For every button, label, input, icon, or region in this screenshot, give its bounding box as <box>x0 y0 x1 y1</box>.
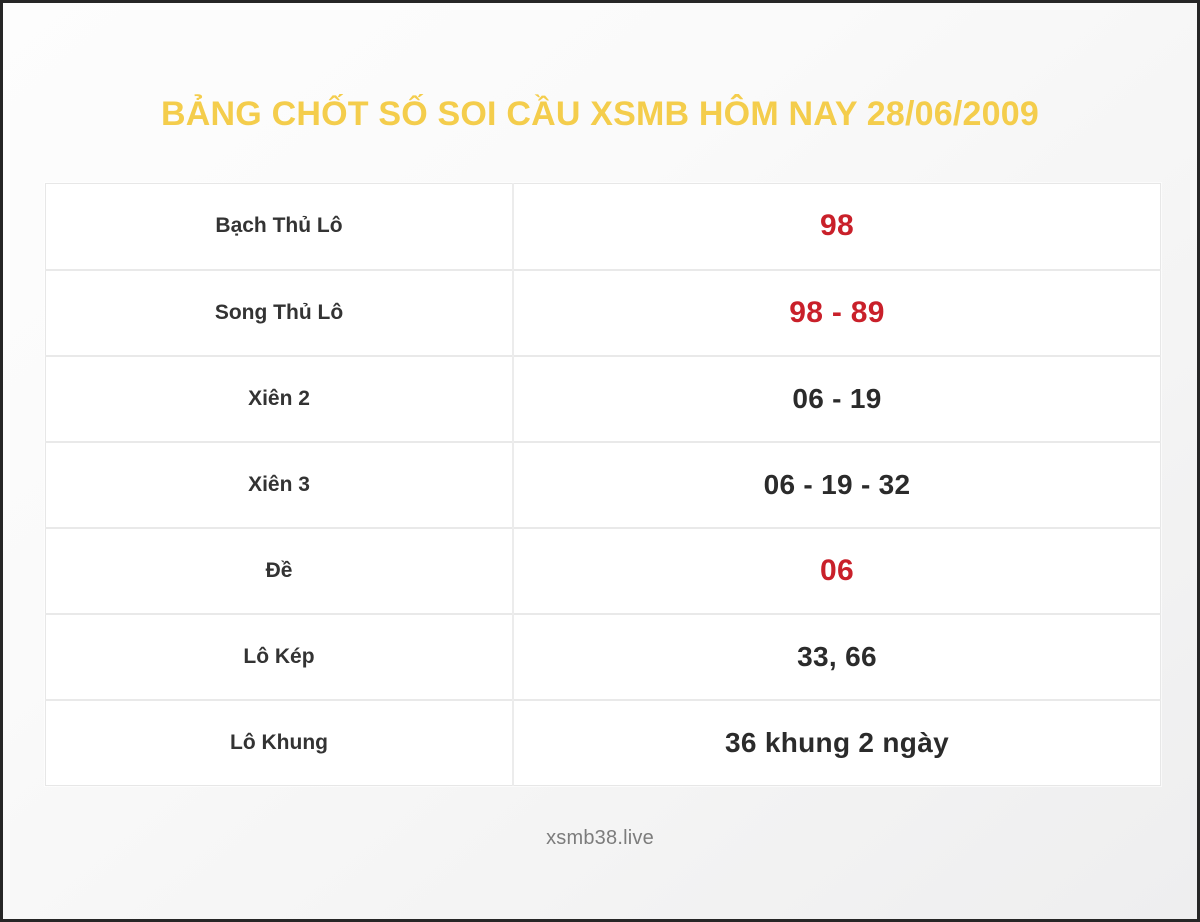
prediction-table: Bạch Thủ Lô 98 Song Thủ Lô 98 - 89 Xiên … <box>45 183 1161 786</box>
row-value: 06 - 19 <box>513 356 1161 442</box>
table-row: Bạch Thủ Lô 98 <box>46 184 1161 270</box>
row-label: Lô Kép <box>46 614 514 700</box>
row-label: Song Thủ Lô <box>46 270 514 356</box>
page-title: BẢNG CHỐT SỐ SOI CẦU XSMB HÔM NAY 28/06/… <box>3 96 1197 133</box>
row-value: 06 - 19 - 32 <box>513 442 1161 528</box>
prediction-table-body: Bạch Thủ Lô 98 Song Thủ Lô 98 - 89 Xiên … <box>46 184 1161 786</box>
row-value: 98 - 89 <box>513 270 1161 356</box>
table-row: Xiên 3 06 - 19 - 32 <box>46 442 1161 528</box>
row-label: Bạch Thủ Lô <box>46 184 514 270</box>
site-credit: xsmb38.live <box>3 827 1197 850</box>
row-label: Lô Khung <box>46 700 514 786</box>
table-row: Đề 06 <box>46 528 1161 614</box>
table-row: Lô Kép 33, 66 <box>46 614 1161 700</box>
row-label: Đề <box>46 528 514 614</box>
row-label: Xiên 2 <box>46 356 514 442</box>
table-row: Xiên 2 06 - 19 <box>46 356 1161 442</box>
row-value: 33, 66 <box>513 614 1161 700</box>
lottery-prediction-card: BẢNG CHỐT SỐ SOI CẦU XSMB HÔM NAY 28/06/… <box>0 0 1200 922</box>
table-row: Lô Khung 36 khung 2 ngày <box>46 700 1161 786</box>
row-value: 98 <box>513 184 1161 270</box>
row-value: 06 <box>513 528 1161 614</box>
row-label: Xiên 3 <box>46 442 514 528</box>
table-row: Song Thủ Lô 98 - 89 <box>46 270 1161 356</box>
row-value: 36 khung 2 ngày <box>513 700 1161 786</box>
